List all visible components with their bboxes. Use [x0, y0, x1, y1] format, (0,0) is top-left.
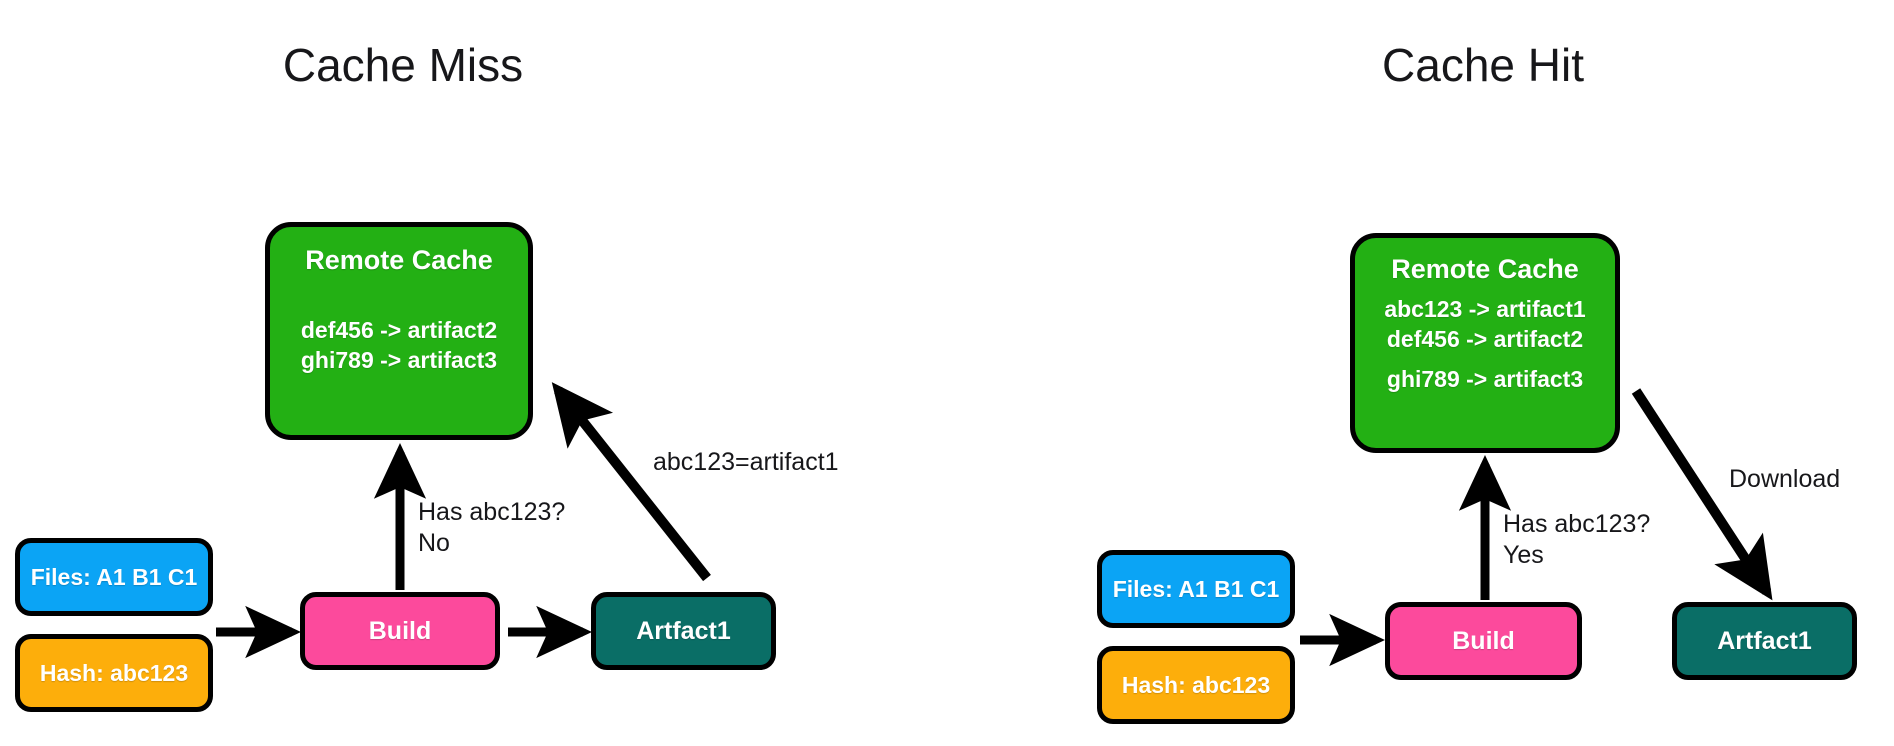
files-node-miss[interactable]: Files: A1 B1 C1: [15, 538, 213, 616]
remote-cache-node-hit[interactable]: Remote Cache abc123 -> artifact1 def456 …: [1350, 233, 1620, 453]
edge-label-query-miss-line2: No: [418, 528, 450, 560]
edge-label-query-hit-line2: Yes: [1503, 540, 1544, 572]
cache-entry: def456 -> artifact2: [301, 315, 497, 345]
build-node-hit[interactable]: Build: [1385, 602, 1582, 680]
panel-title-cache-hit: Cache Hit: [1370, 42, 1596, 88]
artifact-node-miss[interactable]: Artfact1: [591, 592, 776, 670]
remote-cache-node-miss[interactable]: Remote Cache def456 -> artifact2 ghi789 …: [265, 222, 533, 440]
cache-entry: ghi789 -> artifact3: [301, 345, 497, 375]
files-node-hit[interactable]: Files: A1 B1 C1: [1097, 550, 1295, 628]
hash-node-hit[interactable]: Hash: abc123: [1097, 646, 1295, 724]
cache-entry: def456 -> artifact2: [1387, 324, 1583, 354]
edge-label-query-miss-line1: Has abc123?: [418, 497, 565, 529]
hash-node-label-miss: Hash: abc123: [40, 662, 188, 685]
edge-label-query-hit-line1: Has abc123?: [1503, 509, 1650, 541]
arrow-artifact-to-cache-miss: [558, 390, 707, 578]
edge-label-upload-miss: abc123=artifact1: [653, 447, 839, 479]
hash-node-label-hit: Hash: abc123: [1122, 674, 1270, 697]
diagram-canvas: Cache Miss Remote Cache def456 -> artifa…: [0, 0, 1894, 746]
remote-cache-entries-miss: def456 -> artifact2 ghi789 -> artifact3: [301, 315, 497, 376]
cache-entry: ghi789 -> artifact3: [1387, 364, 1583, 394]
remote-cache-title-miss: Remote Cache: [305, 247, 493, 274]
build-node-miss[interactable]: Build: [300, 592, 500, 670]
artifact-node-label-miss: Artfact1: [636, 619, 730, 644]
remote-cache-entries-hit: abc123 -> artifact1 def456 -> artifact2 …: [1384, 294, 1585, 394]
files-node-label-hit: Files: A1 B1 C1: [1113, 578, 1280, 601]
cache-entry: abc123 -> artifact1: [1384, 294, 1585, 324]
artifact-node-hit[interactable]: Artfact1: [1672, 602, 1857, 680]
build-node-label-miss: Build: [369, 619, 432, 644]
edge-label-download-hit: Download: [1729, 464, 1840, 496]
build-node-label-hit: Build: [1452, 629, 1515, 654]
hash-node-miss[interactable]: Hash: abc123: [15, 634, 213, 712]
remote-cache-title-hit: Remote Cache: [1391, 256, 1579, 283]
files-node-label-miss: Files: A1 B1 C1: [31, 566, 198, 589]
panel-title-cache-miss: Cache Miss: [268, 42, 538, 88]
artifact-node-label-hit: Artfact1: [1717, 629, 1811, 654]
